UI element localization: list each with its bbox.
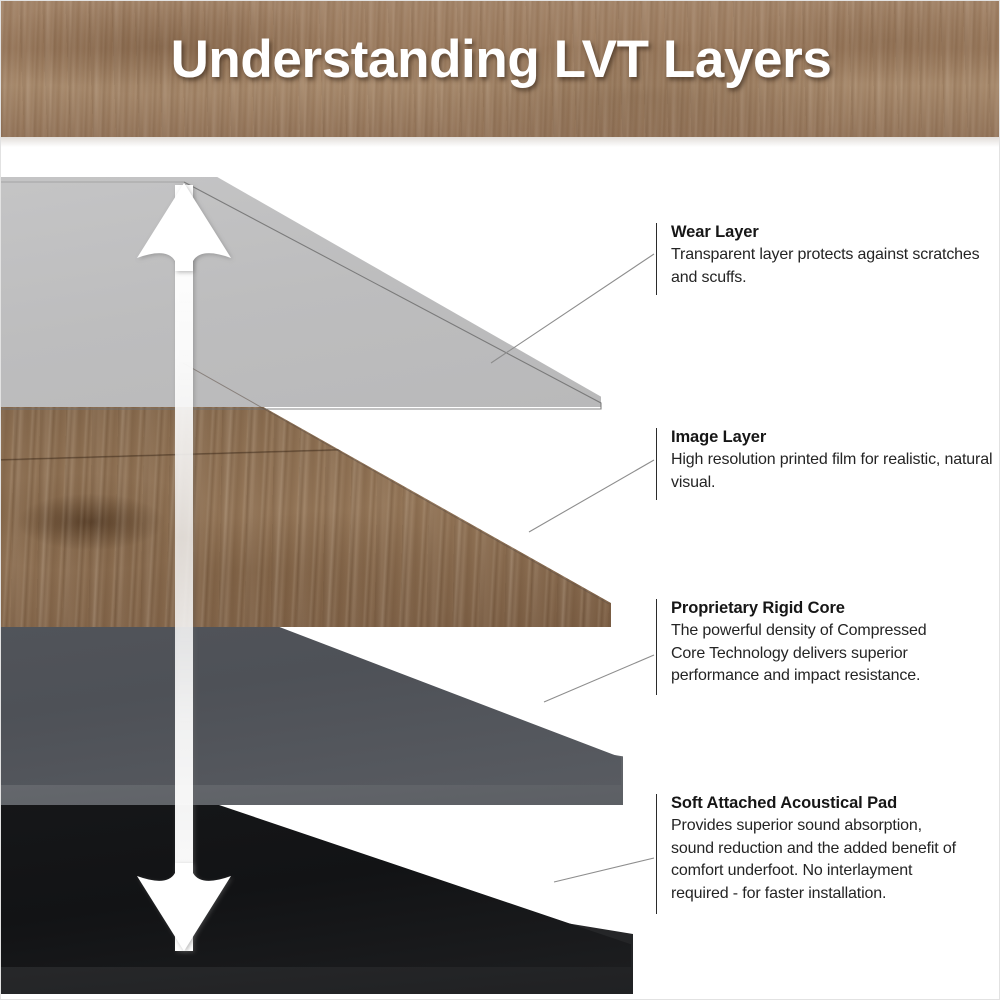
acoustical-pad-surface xyxy=(0,792,631,967)
callout-description-image-layer: High resolution printed film for realist… xyxy=(671,449,996,494)
callout-title-rigid-core: Proprietary Rigid Core xyxy=(671,599,956,618)
wear-layer-surface xyxy=(0,177,601,407)
callout-description-wear-layer: Transparent layer protects against scrat… xyxy=(671,244,986,289)
callout-rigid-core: Proprietary Rigid Core The powerful dens… xyxy=(656,599,956,695)
callout-wear-layer: Wear Layer Transparent layer protects ag… xyxy=(656,223,986,295)
page-title: Understanding LVT Layers xyxy=(1,29,1000,90)
lvt-layers-infographic: Understanding LVT Layers xyxy=(0,0,1000,1000)
callout-title-wear-layer: Wear Layer xyxy=(671,223,986,242)
callout-description-rigid-core: The powerful density of Compressed Core … xyxy=(671,620,956,688)
callout-image-layer: Image Layer High resolution printed film… xyxy=(656,428,996,500)
callout-description-acoustical-pad: Provides superior sound absorption, soun… xyxy=(671,815,961,905)
callout-title-image-layer: Image Layer xyxy=(671,428,996,447)
callout-acoustical-pad: Soft Attached Acoustical Pad Provides su… xyxy=(656,794,961,914)
callout-title-acoustical-pad: Soft Attached Acoustical Pad xyxy=(671,794,961,813)
